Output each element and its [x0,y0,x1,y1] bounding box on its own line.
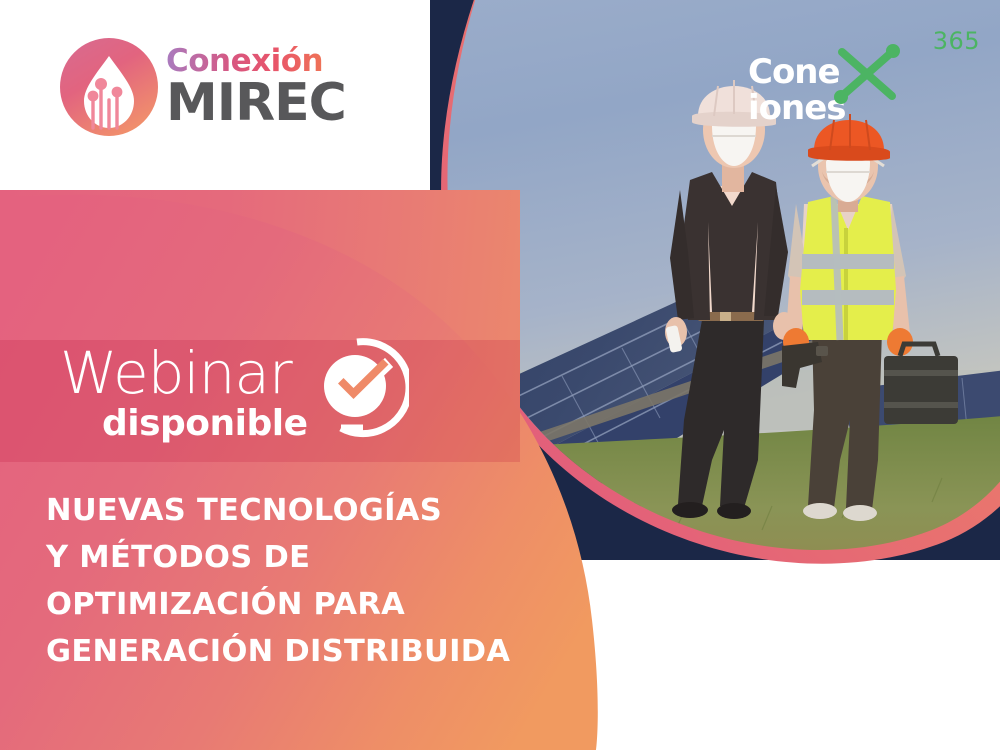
poster-canvas: Webinar disponible NUEVAS TECNOLOGÍAS Y … [0,0,1000,750]
green-x-connector-icon [830,42,904,106]
cx-365-superscript: 365 [933,28,980,54]
headline-line-4: GENERACIÓN DISTRIBUIDA [46,628,566,675]
page-title: NUEVAS TECNOLOGÍAS Y MÉTODOS DE OPTIMIZA… [46,487,566,675]
webinar-badge: Webinar disponible [60,340,480,462]
headline-line-3: OPTIMIZACIÓN PARA [46,581,566,628]
cx-text-before: Cone [748,52,840,92]
disponible-label: disponible [102,406,308,442]
mirec-word: MIREC [166,76,346,130]
headline-line-1: NUEVAS TECNOLOGÍAS [46,487,566,534]
toolbox-icon [884,344,958,424]
headline-line-2: Y MÉTODOS DE [46,534,566,581]
conexiones-365-logo[interactable]: 365 Coneiones [748,28,980,106]
conexion-mirec-wordmark: Conexión MIREC [166,44,346,130]
check-circle-icon [305,336,409,440]
conexion-mirec-logo[interactable]: Conexión MIREC [60,38,350,143]
webinar-label: Webinar [60,344,292,402]
droplet-circuit-icon [60,38,158,136]
